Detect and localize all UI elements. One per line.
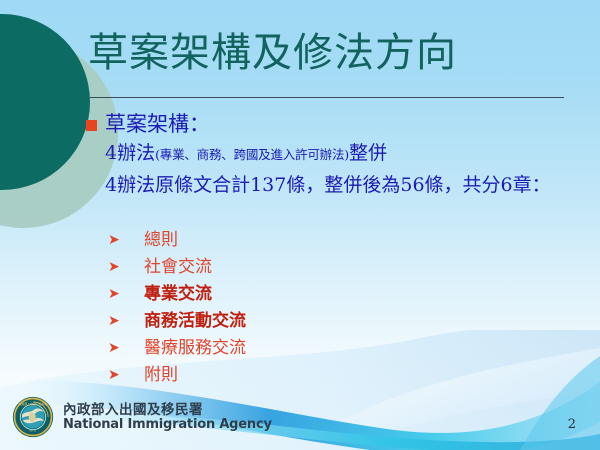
list-item-label: 附則 xyxy=(144,364,178,386)
arrow-bullet-icon: ➤ xyxy=(108,260,130,274)
slide: 草案架構及修法方向 草案架構： 4辦法(專業、商務、跨國及進入許可辦法)整併 4… xyxy=(0,0,600,450)
footer: 內政部入出國及移民署 N.I.A. 內政部入出國及移民署 National Im… xyxy=(12,396,272,438)
list-item[interactable]: ➤ 商務活動交流 xyxy=(108,307,488,334)
list-item-label: 總則 xyxy=(144,229,178,251)
svg-text:N.I.A.: N.I.A. xyxy=(30,428,37,432)
list-item-label: 醫療服務交流 xyxy=(144,337,246,359)
chapter-list: ➤ 總則 ➤ 社會交流 ➤ 專業交流 ➤ 商務活動交流 ➤ 醫療服務交流 ➤ 附… xyxy=(108,226,488,388)
lead-heading: 草案架構： xyxy=(105,111,210,138)
organization-name: 內政部入出國及移民署 National Immigration Agency xyxy=(63,403,272,432)
arrow-bullet-icon: ➤ xyxy=(108,341,130,355)
list-item-label: 社會交流 xyxy=(144,256,212,278)
lead-bullet-row: 草案架構： xyxy=(86,111,586,138)
list-item-label: 商務活動交流 xyxy=(144,310,246,332)
national-immigration-agency-emblem-icon: 內政部入出國及移民署 N.I.A. xyxy=(12,396,54,438)
body-line-2: 4辦法(專業、商務、跨國及進入許可辦法)整併 xyxy=(105,141,586,167)
list-item[interactable]: ➤ 社會交流 xyxy=(108,253,488,280)
page-number: 2 xyxy=(568,417,576,432)
list-item[interactable]: ➤ 總則 xyxy=(108,226,488,253)
body-content: 草案架構： 4辦法(專業、商務、跨國及進入許可辦法)整併 4辦法原條文合計137… xyxy=(86,111,586,198)
arrow-bullet-icon: ➤ xyxy=(108,233,130,247)
list-item[interactable]: ➤ 附則 xyxy=(108,361,488,388)
organization-name-en: National Immigration Agency xyxy=(63,418,272,432)
body-line-2-paren: (專業、商務、跨國及進入許可辦法) xyxy=(155,147,349,162)
arrow-bullet-icon: ➤ xyxy=(108,287,130,301)
body-line-3: 4辦法原條文合計137條，整併後為56條，共分6章： xyxy=(105,172,586,198)
arrow-bullet-icon: ➤ xyxy=(108,368,130,382)
list-item[interactable]: ➤ 專業交流 xyxy=(108,280,488,307)
list-item[interactable]: ➤ 醫療服務交流 xyxy=(108,334,488,361)
svg-text:內政部入出國及移民署: 內政部入出國及移民署 xyxy=(18,401,47,406)
page-title: 草案架構及修法方向 xyxy=(88,28,457,78)
organization-name-cn: 內政部入出國及移民署 xyxy=(63,403,272,417)
body-line-2-suffix: 整併 xyxy=(349,142,387,164)
title-divider xyxy=(90,97,564,98)
list-item-label: 專業交流 xyxy=(144,283,212,305)
body-line-2-prefix: 4辦法 xyxy=(105,142,155,164)
red-square-bullet-icon xyxy=(86,120,97,131)
arrow-bullet-icon: ➤ xyxy=(108,314,130,328)
